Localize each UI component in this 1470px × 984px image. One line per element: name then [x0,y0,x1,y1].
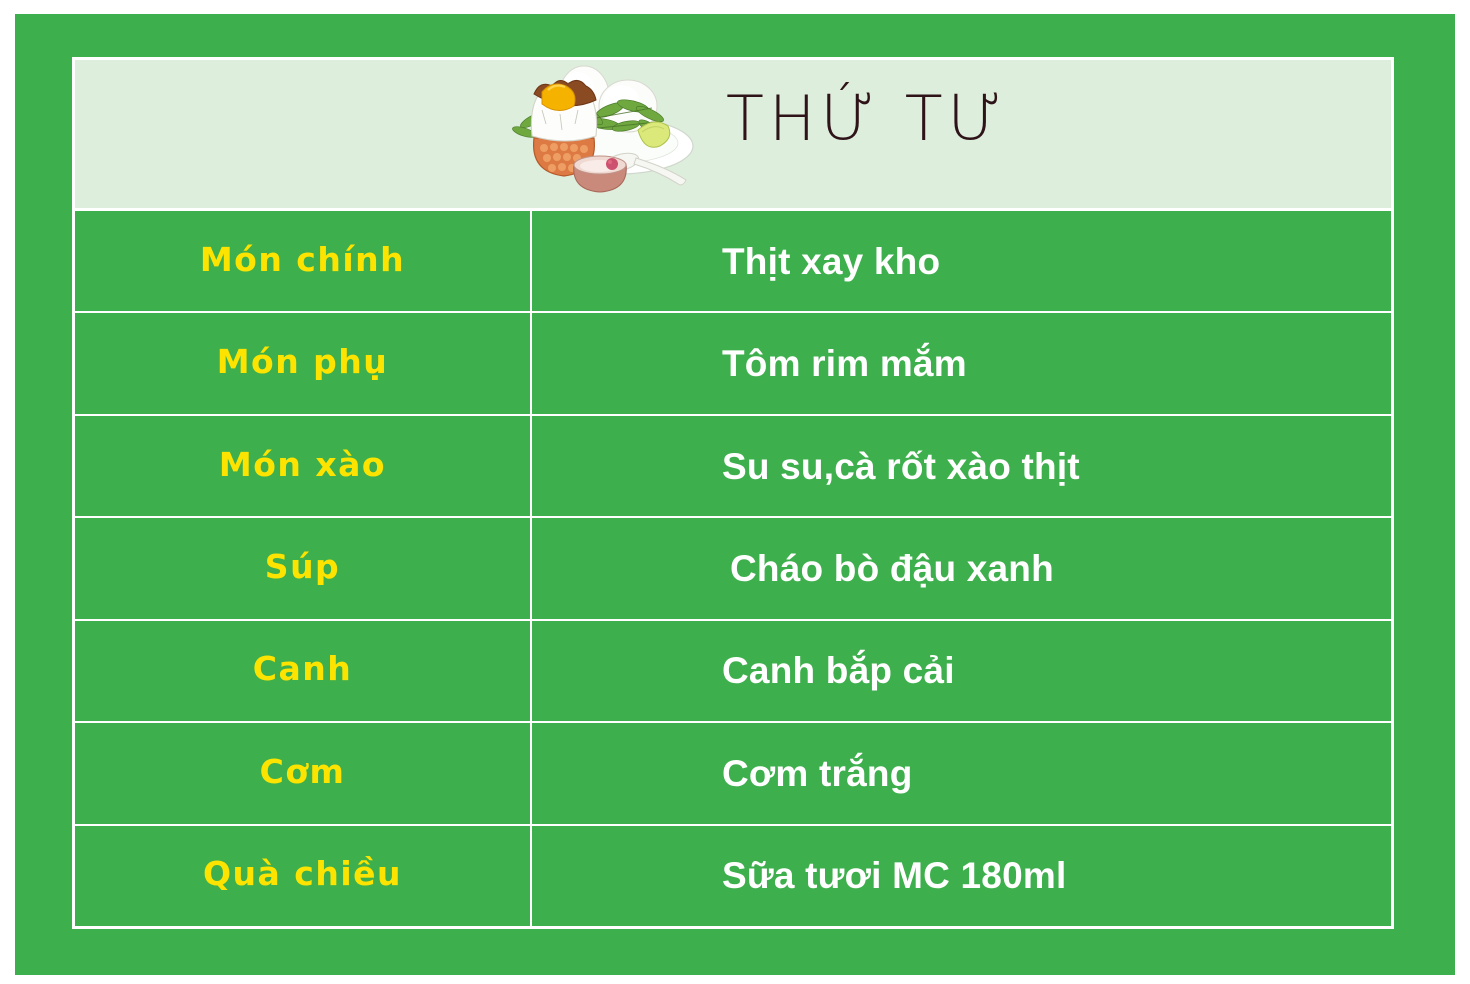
row-value: Su su,cà rốt xào thịt [722,448,1080,485]
row-label: Súp [265,550,340,583]
page-title: THỨ TƯ [726,88,1007,150]
table-row: Quà chiều Sữa tươi MC 180ml [75,826,1391,926]
row-label: Canh [253,652,352,685]
table-row: Món phụ Tôm rim mắm [75,313,1391,415]
row-value-cell: Su su,cà rốt xào thịt [532,416,1391,516]
table-row: Súp Cháo bò đậu xanh [75,518,1391,620]
row-label-cell: Món xào [75,416,532,516]
row-value-cell: Sữa tươi MC 180ml [532,826,1391,926]
row-value: Cơm trắng [722,755,913,792]
row-label-cell: Canh [75,621,532,721]
row-value: Tôm rim mắm [722,345,967,382]
row-value-cell: Tôm rim mắm [532,313,1391,413]
row-label-cell: Cơm [75,723,532,823]
row-label-cell: Quà chiều [75,826,532,926]
row-value-cell: Cơm trắng [532,723,1391,823]
row-value: Cháo bò đậu xanh [730,550,1054,587]
row-value: Thịt xay kho [722,243,940,280]
row-label-cell: Món chính [75,211,532,311]
row-value-cell: Thịt xay kho [532,211,1391,311]
row-value-cell: Canh bắp cải [532,621,1391,721]
menu-rows: Món chính Thịt xay kho Món phụ Tôm rim m… [75,211,1391,926]
menu-card: THỨ TƯ Món chính Thịt xay kho Món phụ Tô… [72,57,1394,929]
row-label: Món xào [219,448,386,481]
menu-header: THỨ TƯ [75,60,1391,211]
row-label: Cơm [260,755,346,788]
menu-board: THỨ TƯ Món chính Thịt xay kho Món phụ Tô… [15,14,1455,975]
row-value: Sữa tươi MC 180ml [722,857,1066,894]
table-row: Cơm Cơm trắng [75,723,1391,825]
table-row: Món chính Thịt xay kho [75,211,1391,313]
row-label-cell: Món phụ [75,313,532,413]
table-row: Món xào Su su,cà rốt xào thịt [75,416,1391,518]
row-label: Món chính [200,243,405,276]
row-value: Canh bắp cải [722,652,955,689]
row-label-cell: Súp [75,518,532,618]
row-label: Quà chiều [203,857,402,890]
table-row: Canh Canh bắp cải [75,621,1391,723]
balut-egg-dish-illustration [500,58,705,206]
row-value-cell: Cháo bò đậu xanh [532,518,1391,618]
row-label: Món phụ [217,345,389,378]
